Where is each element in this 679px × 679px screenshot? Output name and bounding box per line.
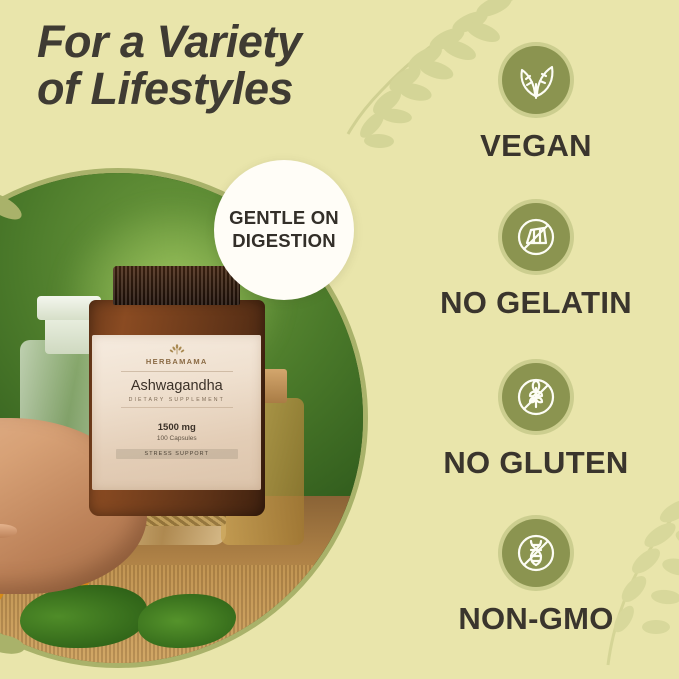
product-infographic: For a Variety of Lifestyles [0, 0, 679, 679]
gentle-on-digestion-badge: GENTLE ON DIGESTION [214, 160, 354, 300]
bottle-label: HERBAMAMA Ashwagandha DIETARY SUPPLEMENT… [92, 335, 261, 490]
product-claim: STRESS SUPPORT [116, 449, 238, 459]
two-leaves-icon [502, 46, 570, 114]
product-name: Ashwagandha [131, 378, 223, 394]
callout-line-1: GENTLE ON [229, 207, 339, 230]
no-dna-icon [502, 519, 570, 587]
product-dose: 1500 mg [158, 422, 196, 433]
page-title: For a Variety of Lifestyles [37, 18, 367, 113]
feature-non-gmo: NON-GMO [393, 519, 679, 637]
headline-line-1: For a Variety [37, 18, 367, 65]
callout-line-2: DIGESTION [232, 230, 336, 253]
feature-label: NO GELATIN [393, 285, 679, 321]
brand-name: HERBAMAMA [146, 357, 208, 366]
feature-no-gelatin: NO GELATIN [393, 203, 679, 321]
feature-vegan: VEGAN [393, 46, 679, 164]
headline-line-2: of Lifestyles [37, 65, 367, 112]
wheat-crest-icon [169, 344, 185, 355]
no-wheat-icon [502, 363, 570, 431]
feature-label: VEGAN [393, 128, 679, 164]
feature-no-gluten: NO GLUTEN [393, 363, 679, 481]
bottle-cap [113, 266, 240, 305]
no-gelatin-icon [502, 203, 570, 271]
feature-label: NO GLUTEN [393, 445, 679, 481]
supplement-bottle: HERBAMAMA Ashwagandha DIETARY SUPPLEMENT… [89, 300, 265, 516]
feature-label: NON-GMO [393, 601, 679, 637]
product-subtitle: DIETARY SUPPLEMENT [129, 397, 225, 403]
product-count: 100 Capsules [157, 435, 197, 442]
